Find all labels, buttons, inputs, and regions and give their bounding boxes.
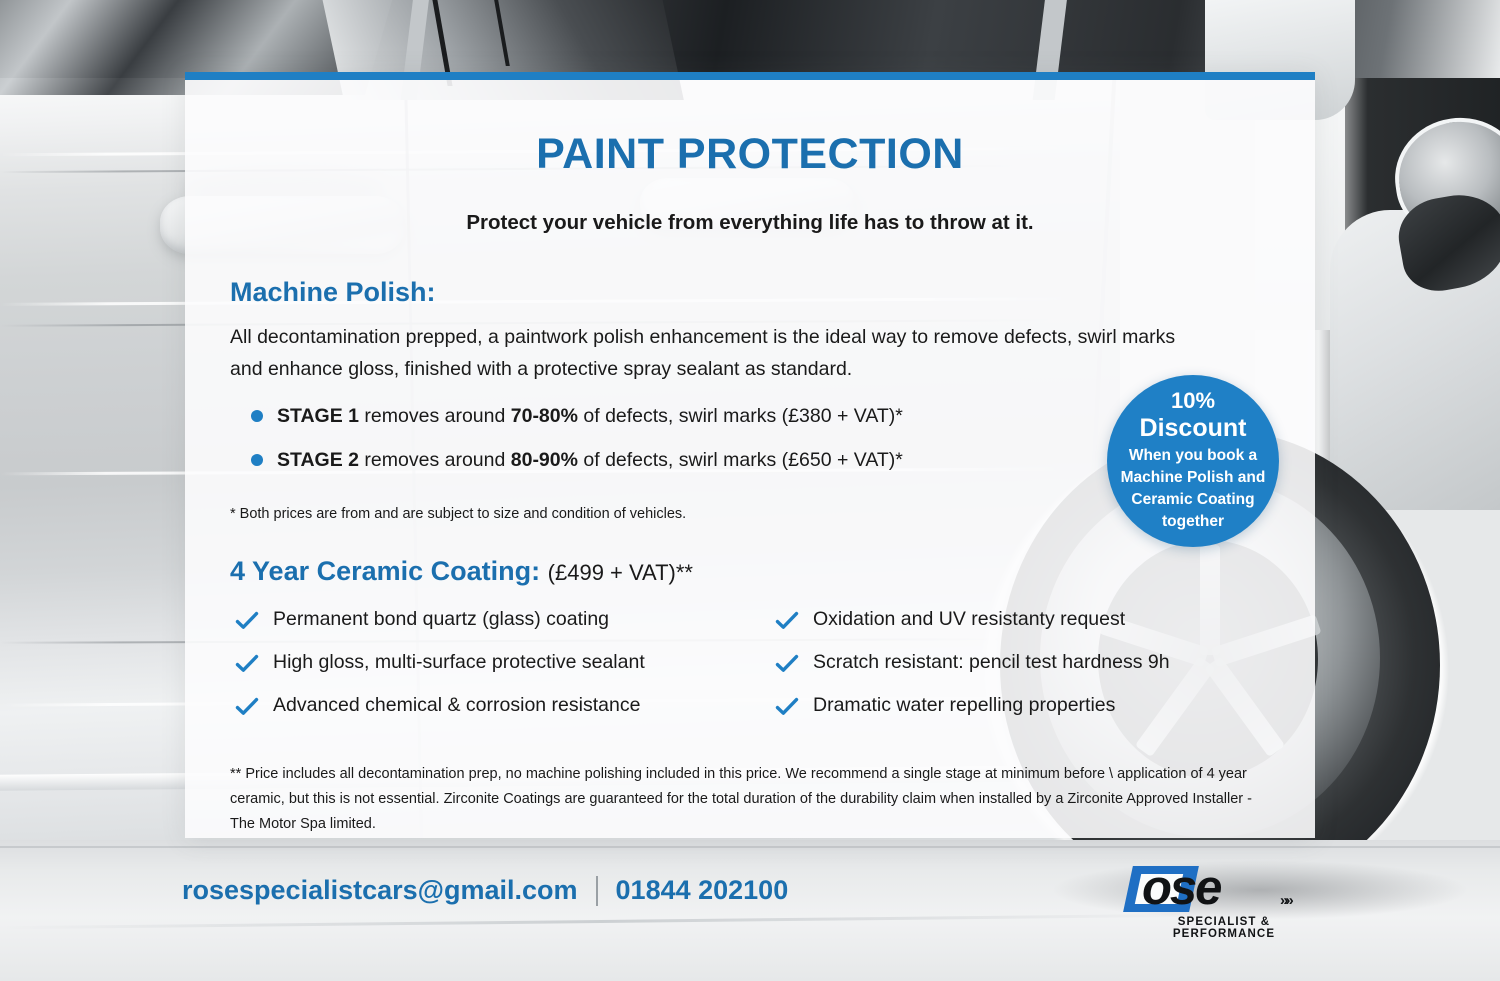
ceramic-feature-column-right: Oxidation and UV resistanty request Scra… (775, 607, 1215, 736)
section-heading-machine-polish: Machine Polish: (185, 235, 1315, 308)
ceramic-price: (£499 + VAT)** (548, 560, 693, 585)
stage-mid: removes around (359, 449, 511, 471)
logo-speed-lines-icon: »» (1280, 892, 1291, 909)
logo-tagline: SPECIALIST & PERFORMANCE (1128, 916, 1320, 940)
feature-text: Advanced chemical & corrosion resistance (273, 693, 640, 717)
ceramic-feature-grid: Permanent bond quartz (glass) coating Hi… (185, 587, 1315, 736)
check-icon (235, 652, 259, 676)
ceramic-disclaimer: ** Price includes all decontamination pr… (185, 736, 1315, 838)
check-icon (775, 609, 799, 633)
ceramic-heading-text: 4 Year Ceramic Coating: (230, 556, 540, 586)
floor-edge-line (0, 846, 1500, 848)
ceramic-feature-column-left: Permanent bond quartz (glass) coating Hi… (235, 607, 775, 736)
list-item: Advanced chemical & corrosion resistance (235, 693, 775, 719)
discount-percent: 10% (1171, 389, 1215, 414)
stage-label: STAGE 1 (277, 405, 359, 427)
stage-percent: 70-80% (511, 405, 578, 427)
discount-badge: 10% Discount When you book a Machine Pol… (1107, 375, 1279, 547)
discount-word: Discount (1140, 414, 1247, 442)
list-item: Oxidation and UV resistanty request (775, 607, 1215, 633)
footer-contact: rosespecialistcars@gmail.com 01844 20210… (182, 875, 788, 906)
contact-separator (596, 876, 598, 906)
feature-text: Dramatic water repelling properties (813, 693, 1115, 717)
rose-logo: ose »» SPECIALIST & PERFORMANCE (1128, 862, 1320, 934)
list-item: High gloss, multi-surface protective sea… (235, 650, 775, 676)
discount-condition: When you book a Machine Polish and Ceram… (1121, 445, 1266, 533)
logo-wordmark: ose (1142, 860, 1220, 916)
list-item: Scratch resistant: pencil test hardness … (775, 650, 1215, 676)
feature-text: Permanent bond quartz (glass) coating (273, 607, 609, 631)
feature-text: High gloss, multi-surface protective sea… (273, 650, 645, 674)
check-icon (775, 652, 799, 676)
check-icon (775, 695, 799, 719)
list-item: Permanent bond quartz (glass) coating (235, 607, 775, 633)
feature-text: Scratch resistant: pencil test hardness … (813, 650, 1170, 674)
stage-tail: of defects, swirl marks (£650 + VAT)* (578, 449, 903, 471)
bullet-dot-icon (251, 454, 263, 466)
bullet-dot-icon (251, 410, 263, 422)
feature-text: Oxidation and UV resistanty request (813, 607, 1125, 631)
stage-mid: removes around (359, 405, 511, 427)
check-icon (235, 609, 259, 633)
stage-percent: 80-90% (511, 449, 578, 471)
page-title: PAINT PROTECTION (185, 80, 1315, 179)
page-subtitle: Protect your vehicle from everything lif… (185, 179, 1315, 235)
contact-phone[interactable]: 01844 202100 (616, 875, 789, 906)
stage-tail: of defects, swirl marks (£380 + VAT)* (578, 405, 903, 427)
machine-polish-intro: All decontamination prepped, a paintwork… (185, 308, 1315, 385)
check-icon (235, 695, 259, 719)
contact-email[interactable]: rosespecialistcars@gmail.com (182, 875, 578, 906)
stage-label: STAGE 2 (277, 449, 359, 471)
list-item: Dramatic water repelling properties (775, 693, 1215, 719)
